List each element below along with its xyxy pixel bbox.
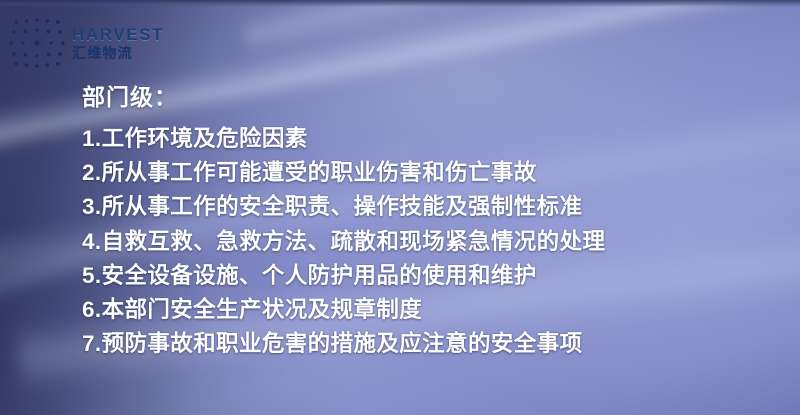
list-item-text: 安全设备设施、个人防护用品的使用和维护 (102, 263, 537, 288)
list-item: 5.安全设备设施、个人防护用品的使用和维护 (82, 259, 776, 293)
list-item-text: 本部门安全生产状况及规章制度 (102, 297, 423, 322)
logo-name-cn: 汇维物流 (72, 46, 164, 60)
slide-content: 部门级： 1.工作环境及危险因素2.所从事工作可能遭受的职业伤害和伤亡事故3.所… (82, 78, 776, 361)
list-item: 7.预防事故和职业危害的措施及应注意的安全事项 (82, 327, 776, 361)
slide-heading: 部门级： (82, 78, 776, 112)
top-edge-band (0, 0, 800, 7)
list-item-text: 所从事工作可能遭受的职业伤害和伤亡事故 (102, 160, 537, 185)
list-item-text: 工作环境及危险因素 (102, 126, 308, 151)
background-streak-top (240, 0, 800, 56)
list-item-number: 5. (82, 263, 102, 288)
list-item-number: 2. (82, 160, 102, 185)
training-topic-list: 1.工作环境及危险因素2.所从事工作可能遭受的职业伤害和伤亡事故3.所从事工作的… (82, 122, 776, 361)
list-item-number: 4. (82, 229, 102, 254)
list-item: 1.工作环境及危险因素 (82, 122, 776, 156)
company-logo: HARVEST 汇维物流 (8, 17, 164, 69)
list-item: 3.所从事工作的安全职责、操作技能及强制性标准 (82, 190, 776, 224)
list-item: 4.自救互救、急救方法、疏散和现场紧急情况的处理 (82, 225, 776, 259)
list-item-number: 3. (82, 194, 102, 219)
radial-burst-dots-icon (8, 17, 66, 69)
list-item-text: 所从事工作的安全职责、操作技能及强制性标准 (102, 194, 583, 219)
logo-wordmark: HARVEST 汇维物流 (72, 26, 164, 60)
presentation-slide: HARVEST 汇维物流 部门级： 1.工作环境及危险因素2.所从事工作可能遭受… (0, 0, 800, 415)
list-item-number: 7. (82, 331, 102, 356)
list-item: 2.所从事工作可能遭受的职业伤害和伤亡事故 (82, 156, 776, 190)
list-item-number: 1. (82, 126, 102, 151)
logo-name-en: HARVEST (72, 26, 164, 43)
list-item-text: 自救互救、急救方法、疏散和现场紧急情况的处理 (102, 229, 606, 254)
list-item-text: 预防事故和职业危害的措施及应注意的安全事项 (102, 331, 583, 356)
list-item: 6.本部门安全生产状况及规章制度 (82, 293, 776, 327)
list-item-number: 6. (82, 297, 102, 322)
